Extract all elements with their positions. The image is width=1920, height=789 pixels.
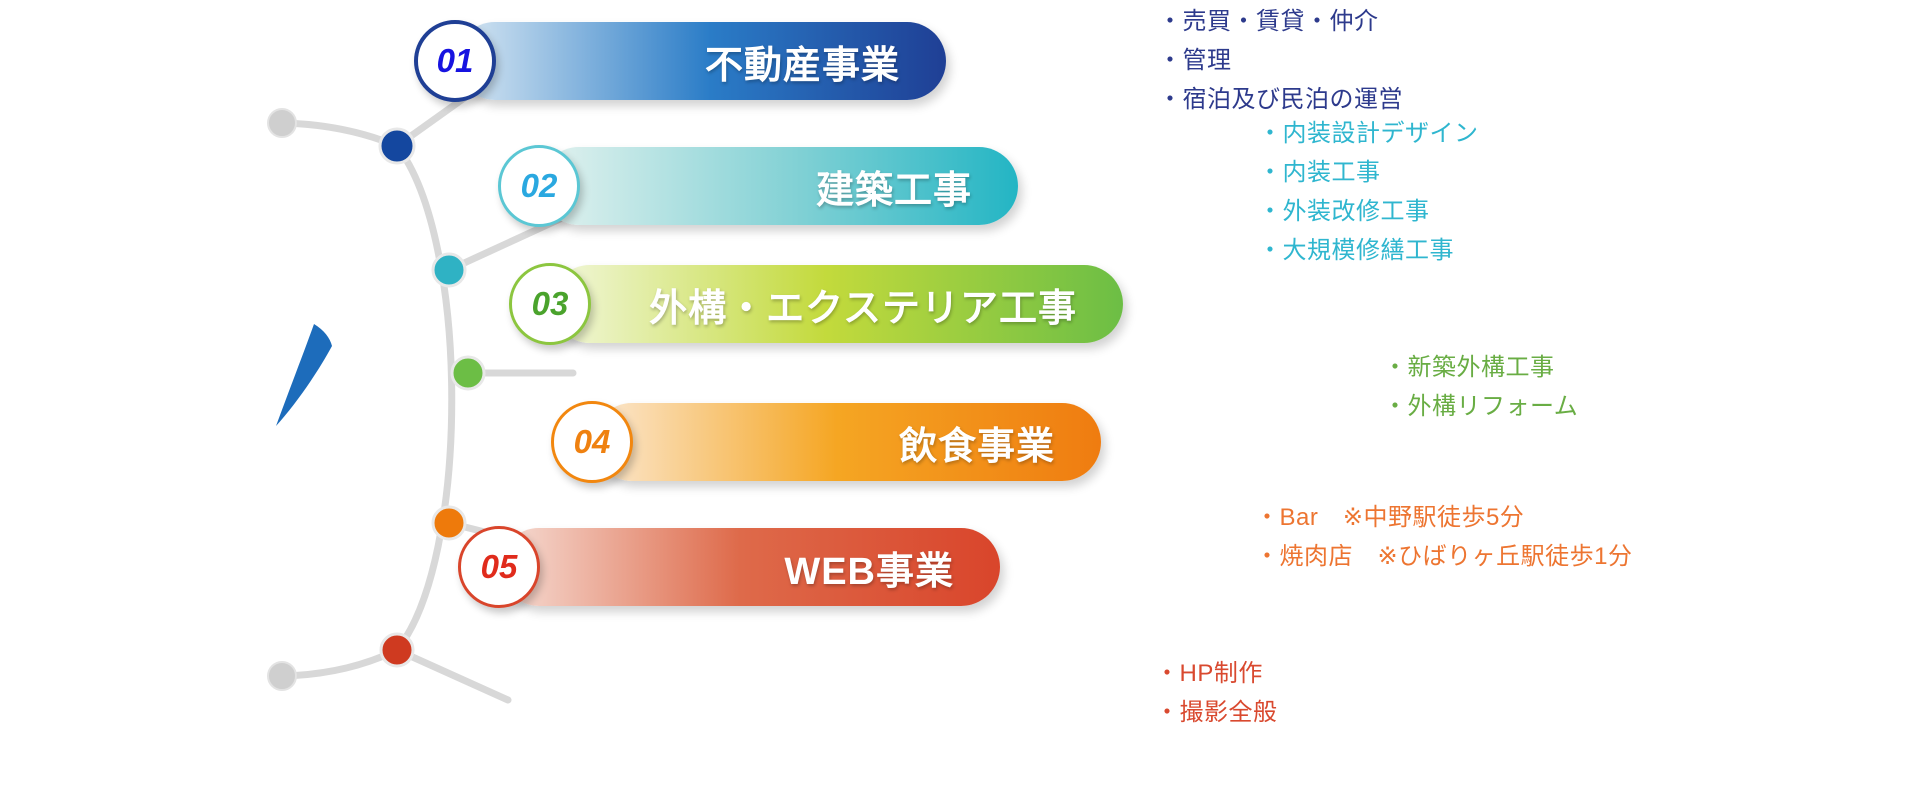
note-item: ・管理 — [1158, 41, 1403, 80]
note-item: ・売買・賃貸・仲介 — [1158, 2, 1403, 41]
item-badge-03[interactable]: 03 — [509, 263, 591, 345]
item-row-02: 建築工事 02 — [540, 147, 1018, 225]
item-row-05: WEB事業 05 — [500, 528, 1000, 606]
note-item: ・HP制作 — [1155, 654, 1278, 693]
item-badge-02[interactable]: 02 — [498, 145, 580, 227]
note-item: ・外構リフォーム — [1383, 387, 1578, 426]
item-title-03: 外構・エクステリア工事 — [649, 277, 1123, 332]
note-item: ・外装改修工事 — [1258, 192, 1479, 231]
item-notes-04: ・Bar ※中野駅徒歩5分 ・焼肉店 ※ひばりヶ丘駅徒歩1分 — [1255, 492, 1632, 582]
item-bar-04[interactable]: 飲食事業 — [593, 403, 1101, 481]
item-bar-05[interactable]: WEB事業 — [500, 528, 1000, 606]
note-item: ・焼肉店 ※ひばりヶ丘駅徒歩1分 — [1255, 537, 1632, 576]
item-row-01: 不動産事業 01 — [456, 22, 946, 100]
item-row-04: 飲食事業 04 — [593, 403, 1101, 481]
item-title-01: 不動産事業 — [705, 34, 946, 89]
item-bar-03[interactable]: 外構・エクステリア工事 — [551, 265, 1123, 343]
note-item: ・内装工事 — [1258, 153, 1479, 192]
note-item: ・新築外構工事 — [1383, 348, 1578, 387]
item-badge-04[interactable]: 04 — [551, 401, 633, 483]
item-title-05: WEB事業 — [784, 540, 1000, 595]
note-item: ・内装設計デザイン — [1258, 114, 1479, 153]
company-logo: #ffffff 55% #1d56a8 #ffffff 50% #3fb9c9 … — [128, 212, 468, 552]
item-title-02: 建築工事 — [816, 159, 1018, 214]
item-title-04: 飲食事業 — [899, 415, 1101, 470]
note-item: ・大規模修繕工事 — [1258, 231, 1479, 270]
infographic-root: #4aa3e8 #9fe0e6 #c3e04a #fbaf2a #e8674a … — [0, 0, 1920, 789]
note-item: ・撮影全般 — [1155, 693, 1278, 732]
item-notes-02: ・内装設計デザイン ・内装工事 ・外装改修工事 ・大規模修繕工事 — [1258, 124, 1479, 259]
item-badge-05[interactable]: 05 — [458, 526, 540, 608]
item-notes-03: ・新築外構工事 ・外構リフォーム — [1383, 347, 1578, 427]
item-notes-01: ・売買・賃貸・仲介 ・管理 ・宿泊及び民泊の運営 — [1158, 10, 1403, 110]
item-badge-01[interactable]: 01 — [414, 20, 496, 102]
item-row-03: 外構・エクステリア工事 03 — [551, 265, 1123, 343]
item-bar-02[interactable]: 建築工事 — [540, 147, 1018, 225]
item-notes-05: ・HP制作 ・撮影全般 — [1155, 650, 1278, 735]
item-bar-01[interactable]: 不動産事業 — [456, 22, 946, 100]
note-item: ・Bar ※中野駅徒歩5分 — [1255, 498, 1632, 537]
